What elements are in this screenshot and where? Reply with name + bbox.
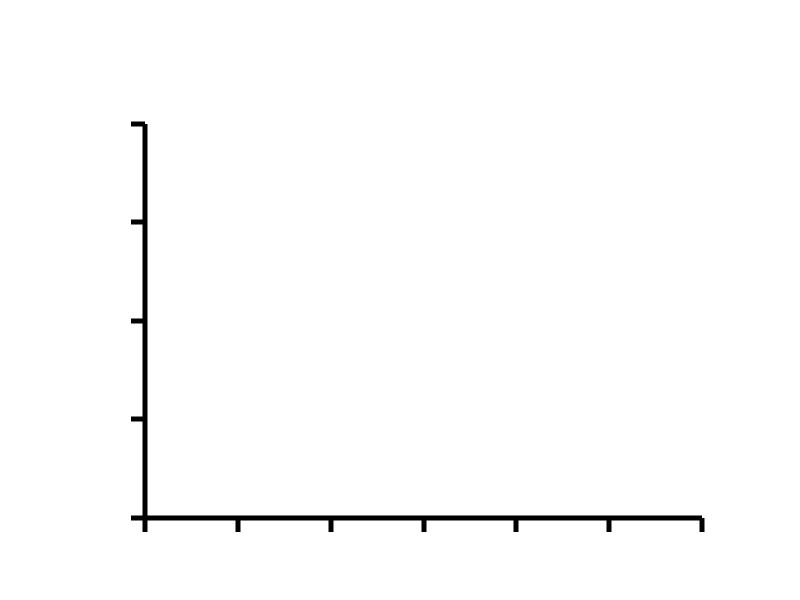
plot-area bbox=[0, 0, 800, 600]
chart-figure bbox=[0, 0, 800, 600]
axis-lines bbox=[145, 124, 702, 518]
plot-canvas bbox=[0, 0, 800, 600]
